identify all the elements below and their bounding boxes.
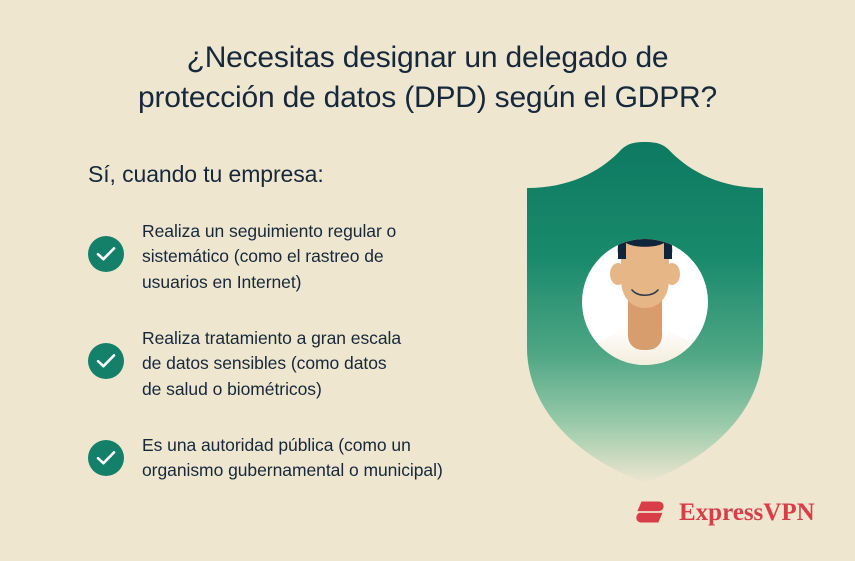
page-title-line-1: ¿Necesitas designar un delegado de [0, 38, 855, 78]
list-item: Realiza tratamiento a gran escala de dat… [88, 324, 528, 402]
page-title: ¿Necesitas designar un delegado de prote… [0, 38, 855, 117]
list-item-line: usuarios en Internet) [142, 270, 396, 295]
list-item-line: de datos sensibles (como datos [142, 351, 401, 376]
expressvpn-wordmark: ExpressVPN [679, 500, 815, 525]
check-icon [88, 236, 124, 272]
list-item: Realiza un seguimiento regular o sistemá… [88, 217, 528, 295]
subtitle: Sí, cuando tu empresa: [88, 160, 528, 189]
expressvpn-e-mark-icon [631, 493, 669, 531]
list-item-line: de salud o biométricos) [142, 377, 401, 402]
check-icon [88, 440, 124, 476]
list-item-label: Es una autoridad pública (como un organi… [142, 431, 443, 484]
check-icon [88, 343, 124, 379]
criteria-list: Realiza un seguimiento regular o sistemá… [88, 217, 528, 484]
expressvpn-logo[interactable]: ExpressVPN [631, 492, 815, 532]
list-item-line: organismo gubernamental o municipal) [142, 458, 443, 483]
list-item: Es una autoridad pública (como un organi… [88, 431, 528, 484]
infographic-canvas: ¿Necesitas designar un delegado de prote… [0, 0, 855, 561]
content-column: Sí, cuando tu empresa: Realiza un seguim… [88, 160, 528, 484]
list-item-label: Realiza tratamiento a gran escala de dat… [142, 324, 401, 402]
list-item-line: Realiza un seguimiento regular o [142, 219, 396, 244]
list-item-line: Realiza tratamiento a gran escala [142, 326, 401, 351]
list-item-line: sistemático (como el rastreo de [142, 244, 396, 269]
list-item-label: Realiza un seguimiento regular o sistemá… [142, 217, 396, 295]
list-item-line: Es una autoridad pública (como un [142, 433, 443, 458]
shield-illustration [516, 142, 774, 492]
page-title-line-2: protección de datos (DPD) según el GDPR? [0, 78, 855, 118]
